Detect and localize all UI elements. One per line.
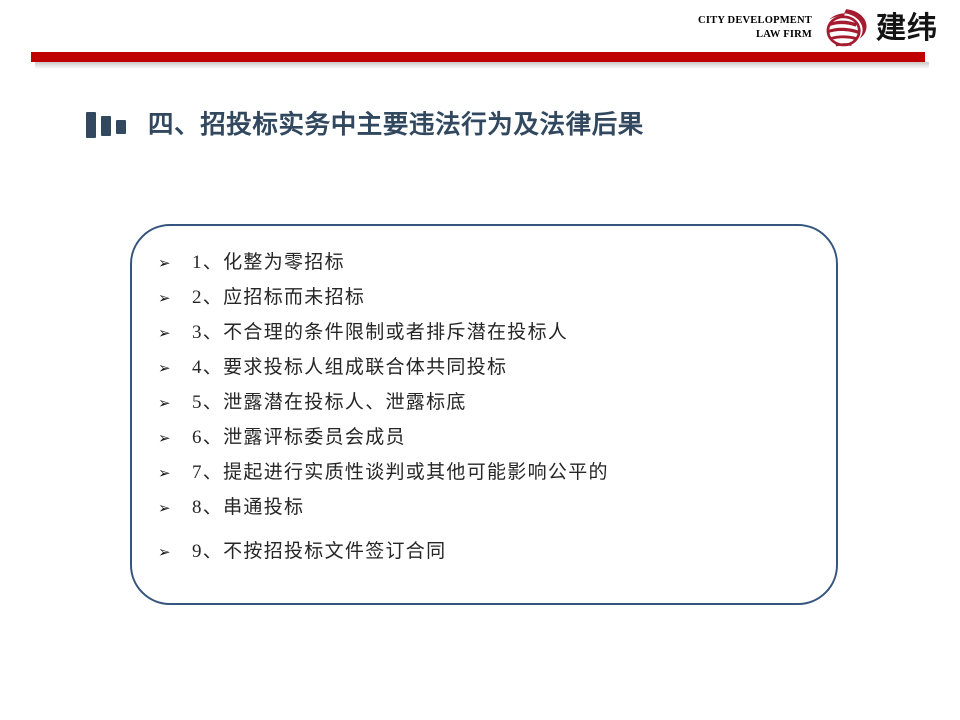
list-item: ➢ 8、串通投标 (158, 493, 816, 528)
list-item: ➢ 6、泄露评标委员会成员 (158, 423, 816, 458)
page-title: 四、招投标实务中主要违法行为及法律后果 (148, 108, 644, 142)
content-rounded-box: ➢ 1、化整为零招标 ➢ 2、应招标而未招标 ➢ 3、不合理的条件限制或者排斥潜… (130, 224, 838, 605)
list-item: ➢ 5、泄露潜在投标人、泄露标底 (158, 388, 816, 423)
arrow-bullet-icon: ➢ (158, 423, 192, 453)
list-item: ➢ 7、提起进行实质性谈判或其他可能影响公平的 (158, 458, 816, 493)
list-item-label: 9、不按招投标文件签订合同 (192, 537, 446, 567)
list-item-label: 2、应招标而未招标 (192, 283, 365, 313)
firm-name-english-line2: LAW FIRM (698, 28, 812, 42)
list-item-label: 4、要求投标人组成联合体共同投标 (192, 353, 507, 383)
slide-header: CITY DEVELOPMENT LAW FIRM (0, 0, 960, 75)
three-bars-icon (86, 112, 126, 138)
globe-swirl-icon (818, 6, 870, 52)
list-item-label: 1、化整为零招标 (192, 248, 345, 278)
list-item: ➢ 3、不合理的条件限制或者排斥潜在投标人 (158, 318, 816, 353)
list-item-label: 5、泄露潜在投标人、泄露标底 (192, 388, 467, 418)
arrow-bullet-icon: ➢ (158, 458, 192, 488)
arrow-bullet-icon: ➢ (158, 248, 192, 278)
header-rule-bar (31, 52, 925, 62)
list-item: ➢ 1、化整为零招标 (158, 248, 816, 283)
header-rule-shadow (35, 62, 929, 69)
arrow-bullet-icon: ➢ (158, 318, 192, 348)
list-item-label: 7、提起进行实质性谈判或其他可能影响公平的 (192, 458, 609, 488)
firm-name-chinese: 建纬 (876, 9, 938, 49)
list-item: ➢ 9、不按招投标文件签订合同 (158, 537, 816, 572)
firm-name-english: CITY DEVELOPMENT LAW FIRM (698, 14, 812, 44)
firm-logo: CITY DEVELOPMENT LAW FIRM (698, 6, 938, 52)
arrow-bullet-icon: ➢ (158, 493, 192, 523)
list-item-label: 3、不合理的条件限制或者排斥潜在投标人 (192, 318, 568, 348)
list-item: ➢ 2、应招标而未招标 (158, 283, 816, 318)
list-item-label: 8、串通投标 (192, 493, 304, 523)
arrow-bullet-icon: ➢ (158, 283, 192, 313)
page-title-row: 四、招投标实务中主要违法行为及法律后果 (86, 104, 644, 146)
arrow-bullet-icon: ➢ (158, 353, 192, 383)
slide-canvas: CITY DEVELOPMENT LAW FIRM (0, 0, 960, 720)
list-item: ➢ 4、要求投标人组成联合体共同投标 (158, 353, 816, 388)
firm-name-english-line1: CITY DEVELOPMENT (698, 14, 812, 28)
list-item-label: 6、泄露评标委员会成员 (192, 423, 406, 453)
arrow-bullet-icon: ➢ (158, 388, 192, 418)
violations-list: ➢ 1、化整为零招标 ➢ 2、应招标而未招标 ➢ 3、不合理的条件限制或者排斥潜… (158, 248, 816, 572)
arrow-bullet-icon: ➢ (158, 537, 192, 567)
